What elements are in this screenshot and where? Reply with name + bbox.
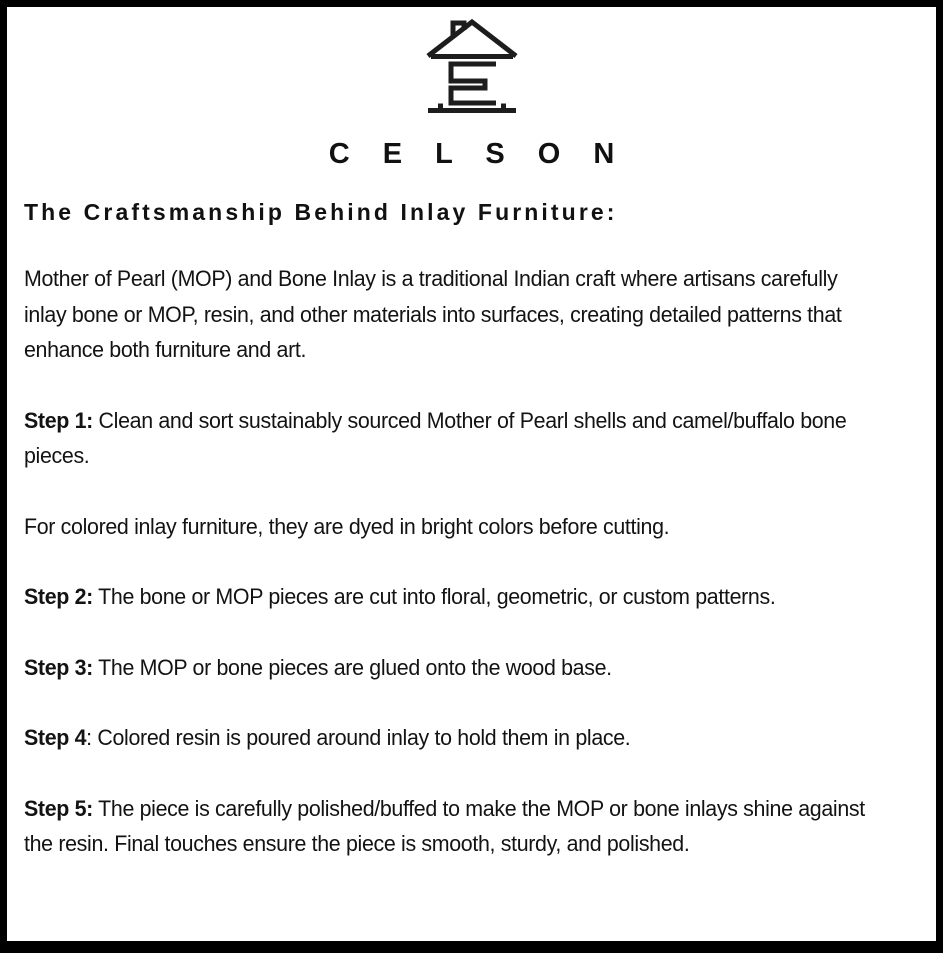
step-3-label: Step 3: bbox=[24, 655, 93, 680]
article-body: Mother of Pearl (MOP) and Bone Inlay is … bbox=[24, 225, 920, 862]
step-5-label: Step 5: bbox=[24, 796, 93, 821]
house-monogram-icon bbox=[424, 18, 520, 118]
intro-text: Mother of Pearl (MOP) and Bone Inlay is … bbox=[24, 266, 842, 362]
step-4-label: Step 4 bbox=[24, 725, 86, 750]
page-title: The Craftsmanship Behind Inlay Furniture… bbox=[24, 200, 928, 225]
paragraph-note-colored: For colored inlay furniture, they are dy… bbox=[24, 509, 880, 545]
poster-frame: C E L S O N The Craftsmanship Behind Inl… bbox=[0, 0, 943, 953]
paragraph-step-2: Step 2: The bone or MOP pieces are cut i… bbox=[24, 579, 880, 615]
paragraph-step-1: Step 1: Clean and sort sustainably sourc… bbox=[24, 403, 880, 474]
paragraph-step-4: Step 4: Colored resin is poured around i… bbox=[24, 720, 880, 756]
step-1-text: Clean and sort sustainably sourced Mothe… bbox=[24, 408, 846, 469]
step-5-text: The piece is carefully polished/buffed t… bbox=[24, 796, 865, 857]
step-3-text: The MOP or bone pieces are glued onto th… bbox=[93, 655, 612, 680]
note-colored-text: For colored inlay furniture, they are dy… bbox=[24, 514, 669, 539]
brand-wordmark: C E L S O N bbox=[316, 140, 627, 169]
step-4-text: : Colored resin is poured around inlay t… bbox=[86, 725, 630, 750]
poster-inner: C E L S O N The Craftsmanship Behind Inl… bbox=[7, 7, 936, 941]
step-2-label: Step 2: bbox=[24, 584, 93, 609]
step-1-label: Step 1: bbox=[24, 408, 93, 433]
step-2-text: The bone or MOP pieces are cut into flor… bbox=[93, 584, 775, 609]
paragraph-step-5: Step 5: The piece is carefully polished/… bbox=[24, 791, 880, 862]
paragraph-step-3: Step 3: The MOP or bone pieces are glued… bbox=[24, 650, 880, 686]
brand-header: C E L S O N bbox=[15, 12, 928, 169]
paragraph-intro: Mother of Pearl (MOP) and Bone Inlay is … bbox=[24, 261, 880, 368]
